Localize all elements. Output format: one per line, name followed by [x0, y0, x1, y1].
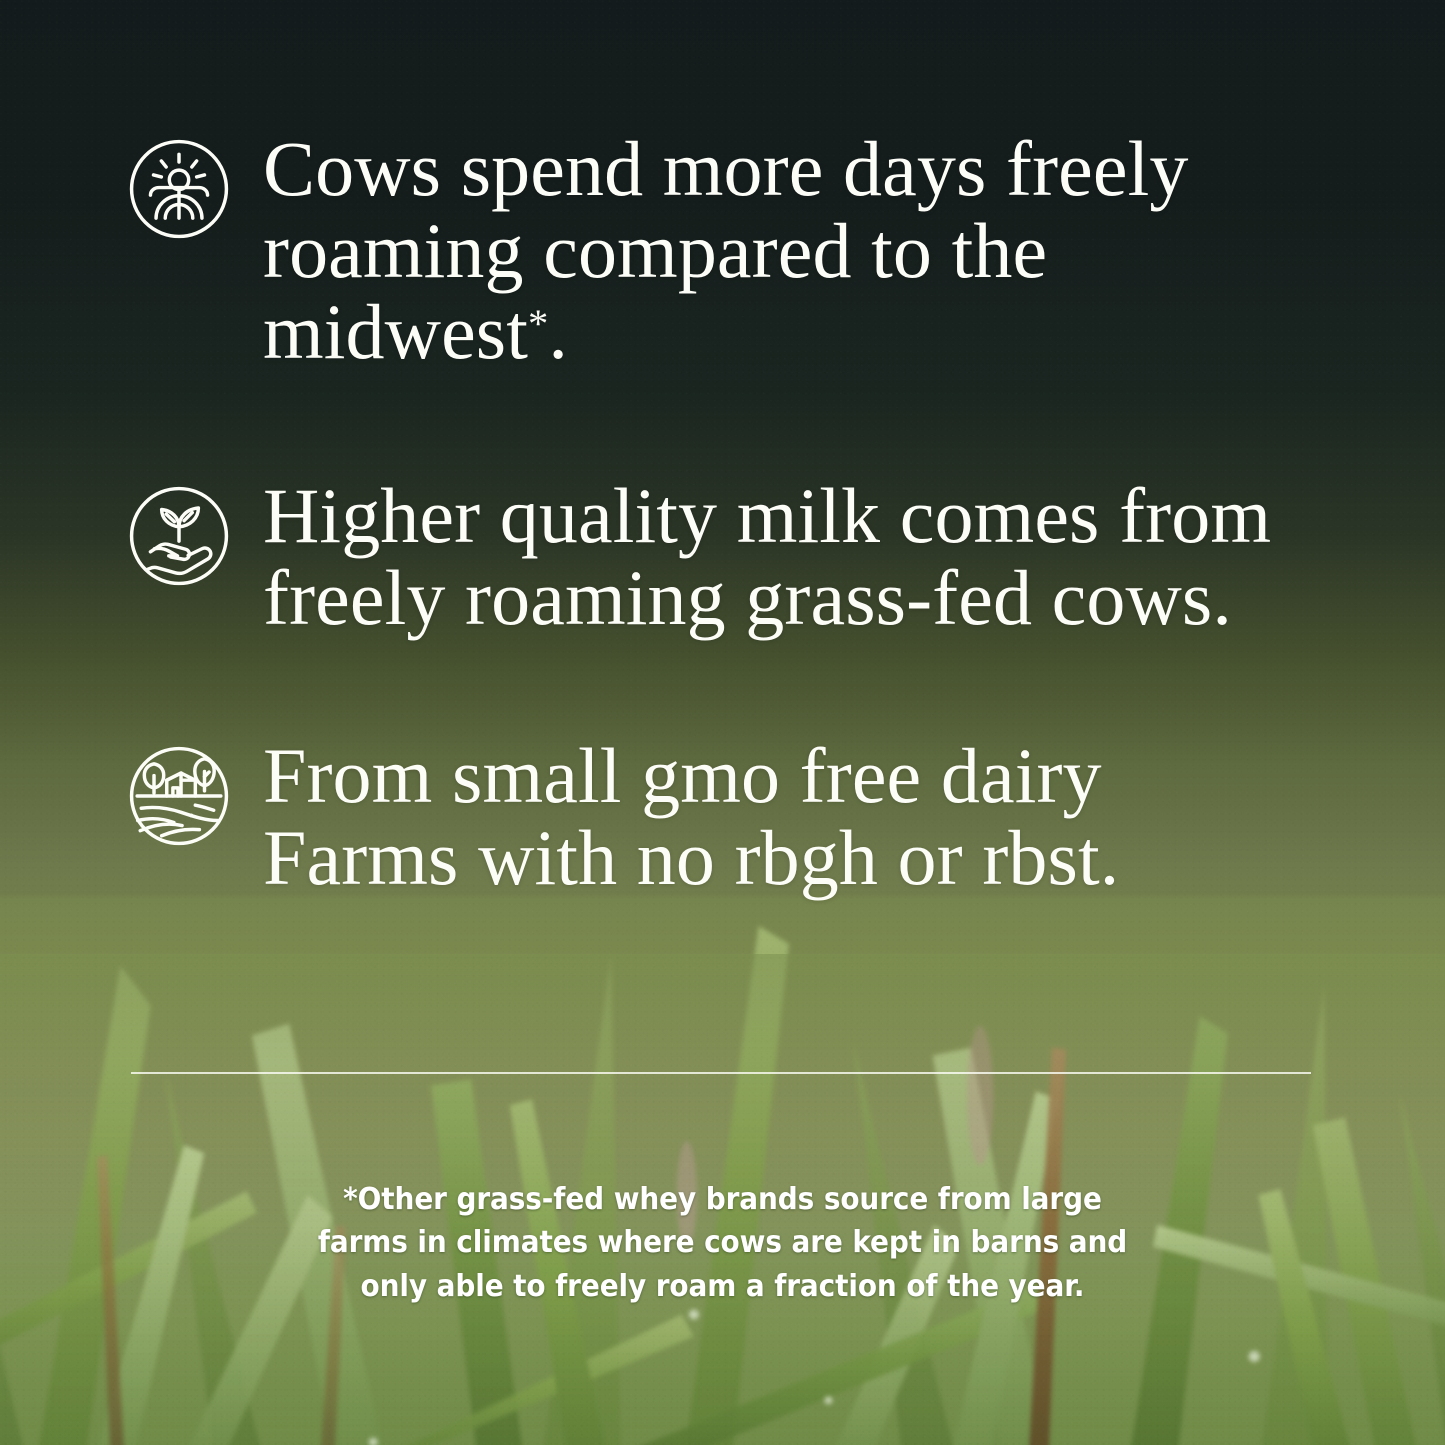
benefit-item-2: Higher quality milk comes from freely ro…: [128, 475, 1385, 638]
benefit-item-3: From small gmo free dairy Farms with no …: [128, 735, 1385, 898]
benefit-text-3-main: From small gmo free dairy Farms with no …: [263, 732, 1119, 901]
benefit-text-1-superscript: *: [528, 301, 548, 346]
promo-graphic: Cows spend more days freely roaming comp…: [0, 0, 1445, 1445]
hand-holding-plant-icon: [128, 485, 230, 587]
footnote-line-3: only able to freely roam a fraction of t…: [61, 1265, 1383, 1308]
benefit-text-2: Higher quality milk comes from freely ro…: [263, 475, 1385, 638]
benefit-text-3: From small gmo free dairy Farms with no …: [263, 735, 1233, 898]
section-divider: [131, 1072, 1311, 1074]
benefit-text-2-main: Higher quality milk comes from freely ro…: [263, 472, 1271, 641]
benefit-text-1: Cows spend more days freely roaming comp…: [263, 128, 1293, 373]
footnote-line-1: *Other grass-fed whey brands source from…: [61, 1178, 1383, 1221]
footnote-disclaimer: *Other grass-fed whey brands source from…: [61, 1178, 1383, 1308]
benefit-text-1-suffix: .: [548, 288, 568, 375]
sun-over-field-icon: [128, 138, 230, 240]
footnote-line-2: farms in climates where cows are kept in…: [61, 1221, 1383, 1264]
benefit-item-1: Cows spend more days freely roaming comp…: [128, 128, 1385, 373]
farm-barn-field-icon: [128, 745, 230, 847]
content-layer: Cows spend more days freely roaming comp…: [0, 0, 1445, 1445]
benefit-text-1-main: Cows spend more days freely roaming comp…: [263, 125, 1188, 375]
